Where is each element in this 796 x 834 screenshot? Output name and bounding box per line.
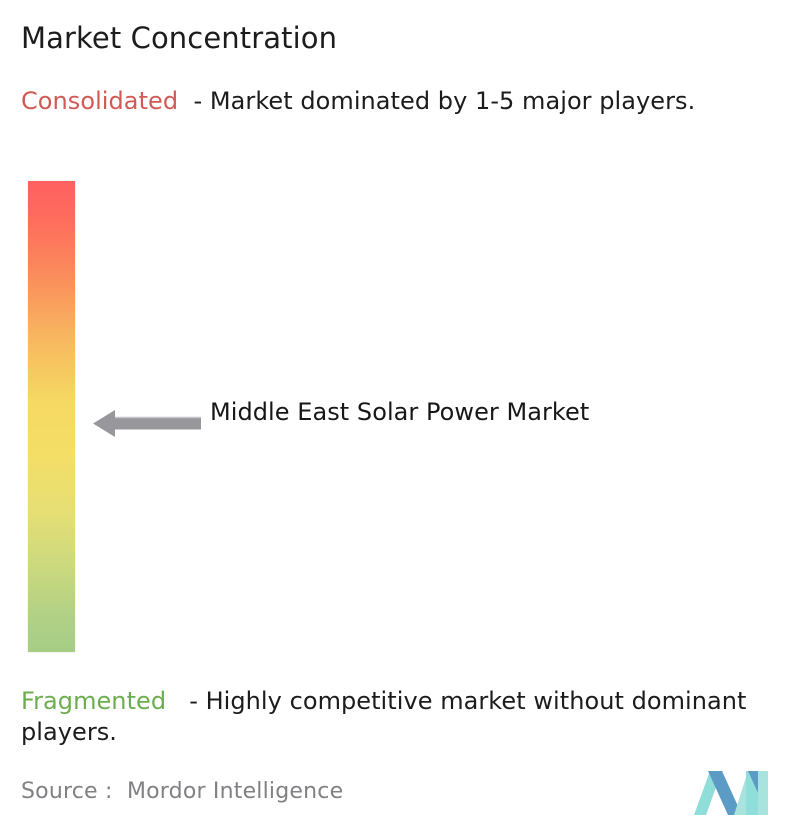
legend-description-consolidated: - Market dominated by 1-5 major players.: [194, 87, 696, 115]
legend-term-fragmented: Fragmented: [21, 687, 166, 715]
legend-separator-consolidated: [178, 87, 193, 115]
legend-fragmented: Fragmented - Highly competitive market w…: [21, 686, 789, 748]
pointer-label: Middle East Solar Power Market: [210, 396, 630, 429]
concentration-scale-bar: [28, 181, 75, 652]
legend-consolidated: Consolidated - Market dominated by 1-5 m…: [21, 86, 777, 117]
legend-term-consolidated: Consolidated: [21, 87, 178, 115]
source-note: Source : Mordor Intelligence: [21, 779, 343, 804]
legend-separator-fragmented: [166, 687, 189, 715]
market-pointer: Middle East Solar Power Market: [93, 396, 693, 476]
market-concentration-chart: Market Concentration Consolidated - Mark…: [0, 0, 796, 834]
left-arrow-icon: [93, 408, 201, 439]
page-title: Market Concentration: [21, 20, 337, 56]
mordor-intelligence-logo-icon: [692, 769, 770, 817]
